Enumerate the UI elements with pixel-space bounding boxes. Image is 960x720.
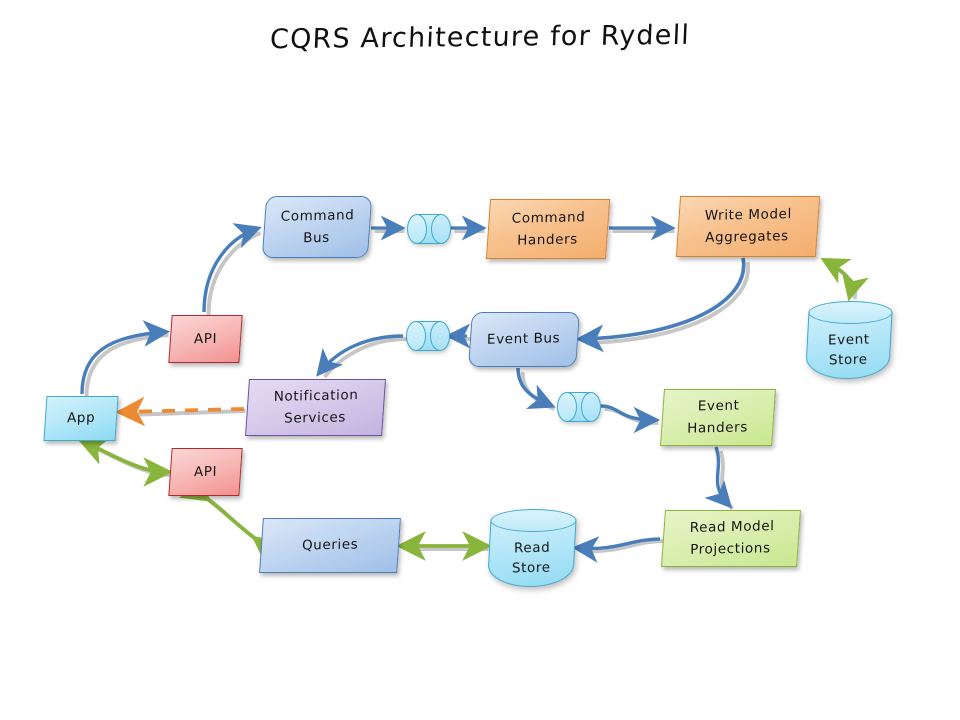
node-label-group: Read Store [487, 533, 576, 583]
node-label: API [194, 461, 217, 482]
node-event-handlers[interactable]: Event Handers [660, 389, 776, 446]
node-command-bus[interactable]: Command Bus [262, 196, 372, 258]
node-label: Handers [517, 229, 578, 251]
queue-command[interactable] [407, 214, 451, 244]
queue-cap-right [430, 321, 450, 351]
queue-cap-left [407, 214, 427, 244]
edge-api-top-to-command-bus [204, 229, 256, 312]
node-api-bottom[interactable]: API [168, 448, 242, 496]
edge-app-to-api-top [82, 332, 164, 394]
node-read-store[interactable]: Read Store [487, 509, 577, 587]
queue-event-notification[interactable] [406, 321, 450, 351]
node-label: Read Model [689, 516, 774, 539]
page-title: CQRS Architecture for Rydell [0, 17, 960, 58]
node-event-store[interactable]: Event Store [805, 301, 893, 379]
edge-write-model-to-event-bus [582, 258, 744, 339]
edge-queue-to-notification-services [320, 336, 403, 372]
node-command-handlers[interactable]: Command Handers [486, 199, 610, 259]
node-read-model-projections[interactable]: Read Model Projections [661, 510, 801, 567]
diagram-canvas: CQRS Architecture for Rydell [0, 0, 960, 720]
node-api-top[interactable]: API [168, 315, 242, 363]
queue-cap-right [581, 392, 601, 422]
queue-cap-left [406, 321, 426, 351]
node-label: Read [514, 537, 550, 558]
node-label: Write Model [705, 204, 792, 227]
queue-event-handler[interactable] [557, 392, 601, 422]
edge-read-model-to-read-store [578, 539, 660, 548]
node-label: Bus [303, 227, 330, 248]
node-label: Services [284, 407, 346, 429]
node-label: Store [829, 350, 868, 371]
node-label: Event [828, 329, 870, 350]
node-write-model-aggregates[interactable]: Write Model Aggregates [676, 196, 820, 257]
node-app[interactable]: App [43, 396, 118, 441]
node-label: Command [281, 205, 355, 227]
node-label: Event [698, 396, 740, 418]
node-label: Handers [687, 417, 748, 439]
node-queries[interactable]: Queries [259, 518, 401, 573]
edge-api-bottom-to-app [84, 442, 166, 472]
edge-write-model-to-event-store [826, 261, 851, 295]
node-label: API [194, 328, 217, 349]
node-label: Projections [690, 538, 771, 561]
queue-cap-left [557, 392, 577, 422]
node-label: Event Bus [487, 328, 561, 350]
node-label: App [67, 408, 95, 430]
node-label: Command [512, 207, 586, 229]
edge-event-handlers-to-read-model [716, 447, 728, 504]
node-label: Queries [302, 534, 359, 556]
node-label: Store [512, 558, 551, 579]
edge-event-bus-to-handler-queue [518, 368, 550, 405]
edge-queue-to-event-handlers [601, 406, 654, 420]
node-label: Aggregates [705, 226, 789, 249]
node-notification-services[interactable]: Notification Services [245, 379, 386, 436]
edge-notification-services-to-app [122, 409, 244, 412]
node-label: Notification [274, 385, 359, 408]
queue-cap-right [431, 214, 451, 244]
node-event-bus[interactable]: Event Bus [468, 312, 580, 367]
edge-queries-to-api-bottom [206, 498, 257, 540]
node-label-group: Event Store [805, 325, 892, 375]
